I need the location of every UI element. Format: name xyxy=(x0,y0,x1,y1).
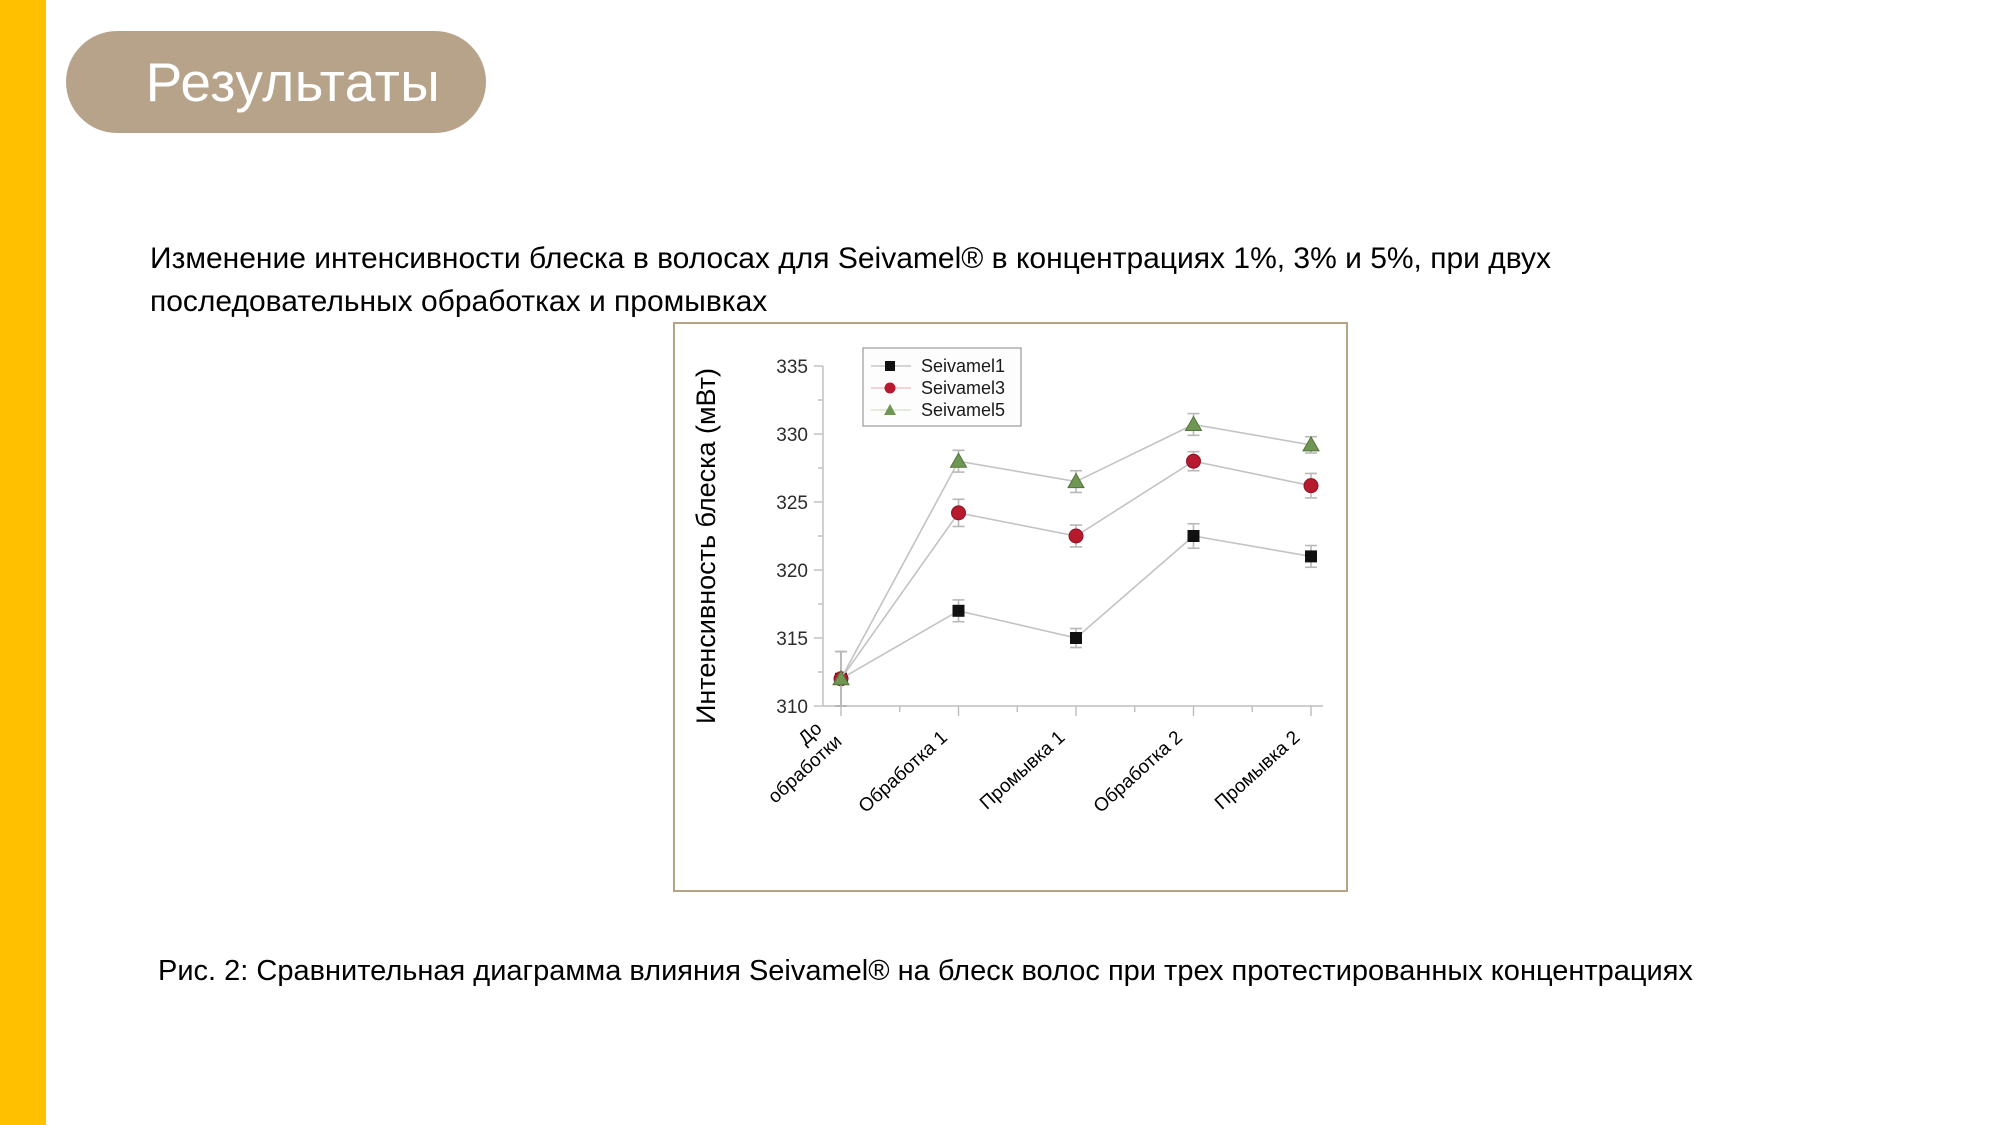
data-point-marker-square xyxy=(1188,530,1200,542)
svg-text:Промывка 2: Промывка 2 xyxy=(1211,727,1304,814)
y-axis-tick-label: 315 xyxy=(776,629,808,650)
page-title: Результаты xyxy=(106,55,447,110)
left-accent-bar xyxy=(0,0,46,1125)
data-point-marker-circle xyxy=(1069,529,1083,543)
x-axis-category-label: Обработка 1 xyxy=(855,727,952,817)
data-point-marker-circle xyxy=(952,506,966,520)
legend-marker-square xyxy=(885,361,895,371)
x-axis-category-label: Обработка 2 xyxy=(1090,727,1187,817)
svg-text:Обработка 2: Обработка 2 xyxy=(1090,727,1187,817)
legend-label-seivamel5: Seivamel5 xyxy=(921,400,1005,420)
legend-label-seivamel3: Seivamel3 xyxy=(921,378,1005,398)
svg-text:Промывка 1: Промывка 1 xyxy=(976,727,1069,814)
y-axis-tick-label: 310 xyxy=(776,697,808,718)
x-axis-category-label: Промывка 1 xyxy=(976,727,1069,814)
data-point-marker-square xyxy=(1305,550,1317,562)
slide-title-pill: Результаты xyxy=(66,31,486,133)
line-chart: 310315320325330335ДообработкиОбработка 1… xyxy=(675,324,1346,890)
y-axis-title: Интенсивность блеска (мВт) xyxy=(691,368,721,724)
svg-text:Обработка 1: Обработка 1 xyxy=(855,727,952,817)
legend-label-seivamel1: Seivamel1 xyxy=(921,356,1005,376)
x-axis-category-label: Дообработки xyxy=(749,714,846,808)
intro-paragraph: Изменение интенсивности блеска в волосах… xyxy=(150,238,1730,323)
y-axis-tick-label: 325 xyxy=(776,493,808,514)
y-axis-tick-label: 330 xyxy=(776,425,808,446)
data-point-marker-square xyxy=(1070,632,1082,644)
data-point-marker-triangle xyxy=(1186,416,1202,430)
y-axis-tick-label: 335 xyxy=(776,357,808,378)
data-point-marker-square xyxy=(953,605,965,617)
y-axis-tick-label: 320 xyxy=(776,561,808,582)
data-point-marker-circle xyxy=(1187,454,1201,468)
data-point-marker-triangle xyxy=(951,453,967,467)
x-axis-category-label: Промывка 2 xyxy=(1211,727,1304,814)
figure-chart-container: 310315320325330335ДообработкиОбработка 1… xyxy=(673,322,1348,892)
data-point-marker-circle xyxy=(1304,479,1318,493)
svg-text:Интенсивность блеска (мВт): Интенсивность блеска (мВт) xyxy=(691,368,721,724)
series-line-seivamel1 xyxy=(841,536,1311,679)
figure-caption: Рис. 2: Сравнительная диаграмма влияния … xyxy=(158,950,1758,992)
legend-marker-circle xyxy=(885,383,896,394)
